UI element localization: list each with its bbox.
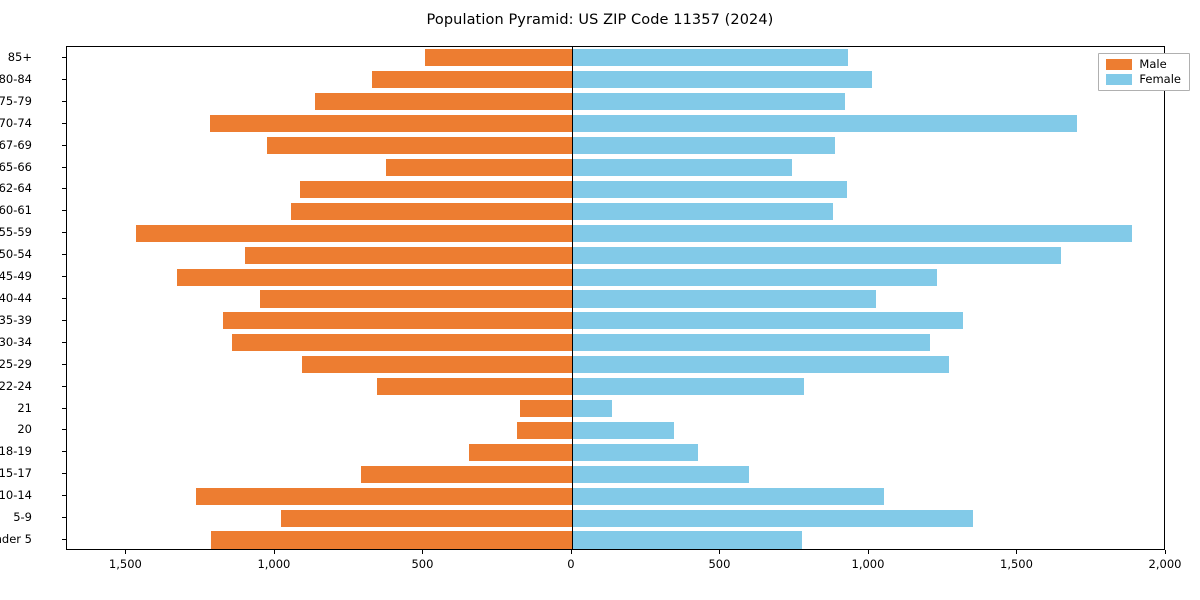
bar-male-25-29 <box>302 356 572 373</box>
y-tick-label: 65-66 <box>0 160 32 174</box>
bar-row <box>67 71 1164 88</box>
x-tick-label: 1,000 <box>852 557 885 571</box>
bar-male-45-49 <box>177 269 572 286</box>
bar-row <box>67 444 1164 461</box>
y-tick-label: 25-29 <box>0 357 32 371</box>
bar-female-40-44 <box>572 290 876 307</box>
bar-female-35-39 <box>572 312 963 329</box>
y-tick-label: 70-74 <box>0 116 32 130</box>
bar-row <box>67 466 1164 483</box>
y-tick-mark <box>62 298 66 299</box>
bar-row <box>67 422 1164 439</box>
y-tick-mark <box>62 210 66 211</box>
bar-female-5-9 <box>572 510 973 527</box>
x-tick-label: 2,000 <box>1149 557 1182 571</box>
y-tick-label: 35-39 <box>0 313 32 327</box>
bar-row <box>67 531 1164 548</box>
plot-area <box>67 47 1164 549</box>
bar-male-60-61 <box>291 203 572 220</box>
bar-male-65-66 <box>386 159 572 176</box>
y-tick-mark <box>62 145 66 146</box>
y-tick-mark <box>62 495 66 496</box>
y-tick-mark <box>62 57 66 58</box>
bar-male-35-39 <box>223 312 572 329</box>
x-tick-label: 0 <box>567 557 574 571</box>
plot-frame <box>66 46 1165 550</box>
bar-row <box>67 115 1164 132</box>
x-tick-label: 1,500 <box>1000 557 1033 571</box>
bar-female-55-59 <box>572 225 1132 242</box>
bar-female-80-84 <box>572 71 872 88</box>
y-tick-mark <box>62 101 66 102</box>
bar-row <box>67 488 1164 505</box>
legend-label: Male <box>1139 59 1166 70</box>
x-tick-label: 1,500 <box>109 557 142 571</box>
y-tick-mark <box>62 254 66 255</box>
y-tick-mark <box>62 517 66 518</box>
y-tick-label: 75-79 <box>0 94 32 108</box>
bar-female-85- <box>572 49 848 66</box>
bar-row <box>67 334 1164 351</box>
bar-row <box>67 400 1164 417</box>
bar-row <box>67 247 1164 264</box>
bar-female-50-54 <box>572 247 1061 264</box>
bar-male-5-9 <box>281 510 572 527</box>
bar-male-80-84 <box>372 71 572 88</box>
bar-female-75-79 <box>572 93 845 110</box>
legend-entry-female: Female <box>1106 74 1181 85</box>
legend-entry-male: Male <box>1106 59 1181 70</box>
x-tick-label: 500 <box>708 557 730 571</box>
bar-female-65-66 <box>572 159 792 176</box>
y-tick-mark <box>62 188 66 189</box>
y-tick-mark <box>62 539 66 540</box>
bar-row <box>67 225 1164 242</box>
y-tick-mark <box>62 232 66 233</box>
bar-male-62-64 <box>300 181 572 198</box>
bar-male-15-17 <box>361 466 572 483</box>
y-tick-label: 50-54 <box>0 247 32 261</box>
bar-male-20 <box>517 422 572 439</box>
bar-female-15-17 <box>572 466 749 483</box>
bar-male-50-54 <box>245 247 572 264</box>
y-tick-label: Under 5 <box>0 532 32 546</box>
y-tick-label: 21 <box>17 401 32 415</box>
bar-row <box>67 137 1164 154</box>
x-tick-mark <box>1165 550 1166 554</box>
bar-row <box>67 269 1164 286</box>
bar-row <box>67 290 1164 307</box>
bar-female-18-19 <box>572 444 698 461</box>
y-tick-label: 62-64 <box>0 181 32 195</box>
x-tick-mark <box>422 550 423 554</box>
x-tick-mark <box>125 550 126 554</box>
bar-female-25-29 <box>572 356 949 373</box>
y-tick-label: 80-84 <box>0 72 32 86</box>
bar-row <box>67 312 1164 329</box>
population-pyramid-figure: Population Pyramid: US ZIP Code 11357 (2… <box>0 0 1200 600</box>
y-tick-label: 5-9 <box>13 510 32 524</box>
bar-male-under-5 <box>211 531 572 548</box>
bar-row <box>67 378 1164 395</box>
y-tick-label: 55-59 <box>0 225 32 239</box>
bar-male-10-14 <box>196 488 572 505</box>
y-tick-mark <box>62 473 66 474</box>
bar-male-55-59 <box>136 225 572 242</box>
x-tick-label: 500 <box>411 557 433 571</box>
legend-swatch-male <box>1106 59 1132 70</box>
y-tick-label: 10-14 <box>0 488 32 502</box>
bar-male-18-19 <box>469 444 571 461</box>
bar-female-70-74 <box>572 115 1077 132</box>
bar-row <box>67 356 1164 373</box>
legend-label: Female <box>1139 74 1181 85</box>
y-tick-mark <box>62 79 66 80</box>
x-tick-mark <box>571 550 572 554</box>
chart-legend: MaleFemale <box>1098 53 1190 91</box>
bar-female-62-64 <box>572 181 847 198</box>
bar-female-22-24 <box>572 378 804 395</box>
bar-female-under-5 <box>572 531 802 548</box>
y-tick-mark <box>62 408 66 409</box>
y-tick-label: 18-19 <box>0 444 32 458</box>
bar-row <box>67 49 1164 66</box>
bar-female-60-61 <box>572 203 833 220</box>
y-tick-mark <box>62 123 66 124</box>
bar-male-30-34 <box>232 334 572 351</box>
bar-male-22-24 <box>377 378 572 395</box>
bar-female-67-69 <box>572 137 835 154</box>
x-tick-label: 1,000 <box>257 557 290 571</box>
bar-female-30-34 <box>572 334 930 351</box>
x-tick-mark <box>868 550 869 554</box>
y-tick-label: 40-44 <box>0 291 32 305</box>
bar-male-67-69 <box>267 137 571 154</box>
y-tick-mark <box>62 429 66 430</box>
bar-female-10-14 <box>572 488 884 505</box>
y-tick-label: 30-34 <box>0 335 32 349</box>
y-tick-mark <box>62 451 66 452</box>
y-tick-label: 15-17 <box>0 466 32 480</box>
y-tick-mark <box>62 167 66 168</box>
bar-male-85- <box>425 49 572 66</box>
bar-male-21 <box>520 400 572 417</box>
y-tick-mark <box>62 364 66 365</box>
legend-swatch-female <box>1106 74 1132 85</box>
chart-title: Population Pyramid: US ZIP Code 11357 (2… <box>0 12 1200 28</box>
y-tick-mark <box>62 386 66 387</box>
bar-female-20 <box>572 422 674 439</box>
bar-row <box>67 510 1164 527</box>
y-tick-label: 85+ <box>8 50 32 64</box>
y-tick-label: 20 <box>17 422 32 436</box>
bar-male-70-74 <box>210 115 572 132</box>
bar-female-45-49 <box>572 269 937 286</box>
y-tick-label: 60-61 <box>0 203 32 217</box>
y-tick-label: 22-24 <box>0 379 32 393</box>
y-tick-label: 45-49 <box>0 269 32 283</box>
bar-row <box>67 203 1164 220</box>
bar-row <box>67 181 1164 198</box>
y-tick-mark <box>62 276 66 277</box>
x-tick-mark <box>719 550 720 554</box>
x-tick-mark <box>274 550 275 554</box>
bar-male-40-44 <box>260 290 572 307</box>
zero-axis-line <box>572 47 573 549</box>
y-tick-mark <box>62 342 66 343</box>
bar-male-75-79 <box>315 93 572 110</box>
x-tick-mark <box>1016 550 1017 554</box>
bar-female-21 <box>572 400 612 417</box>
y-tick-label: 67-69 <box>0 138 32 152</box>
bar-row <box>67 93 1164 110</box>
y-tick-mark <box>62 320 66 321</box>
bar-row <box>67 159 1164 176</box>
